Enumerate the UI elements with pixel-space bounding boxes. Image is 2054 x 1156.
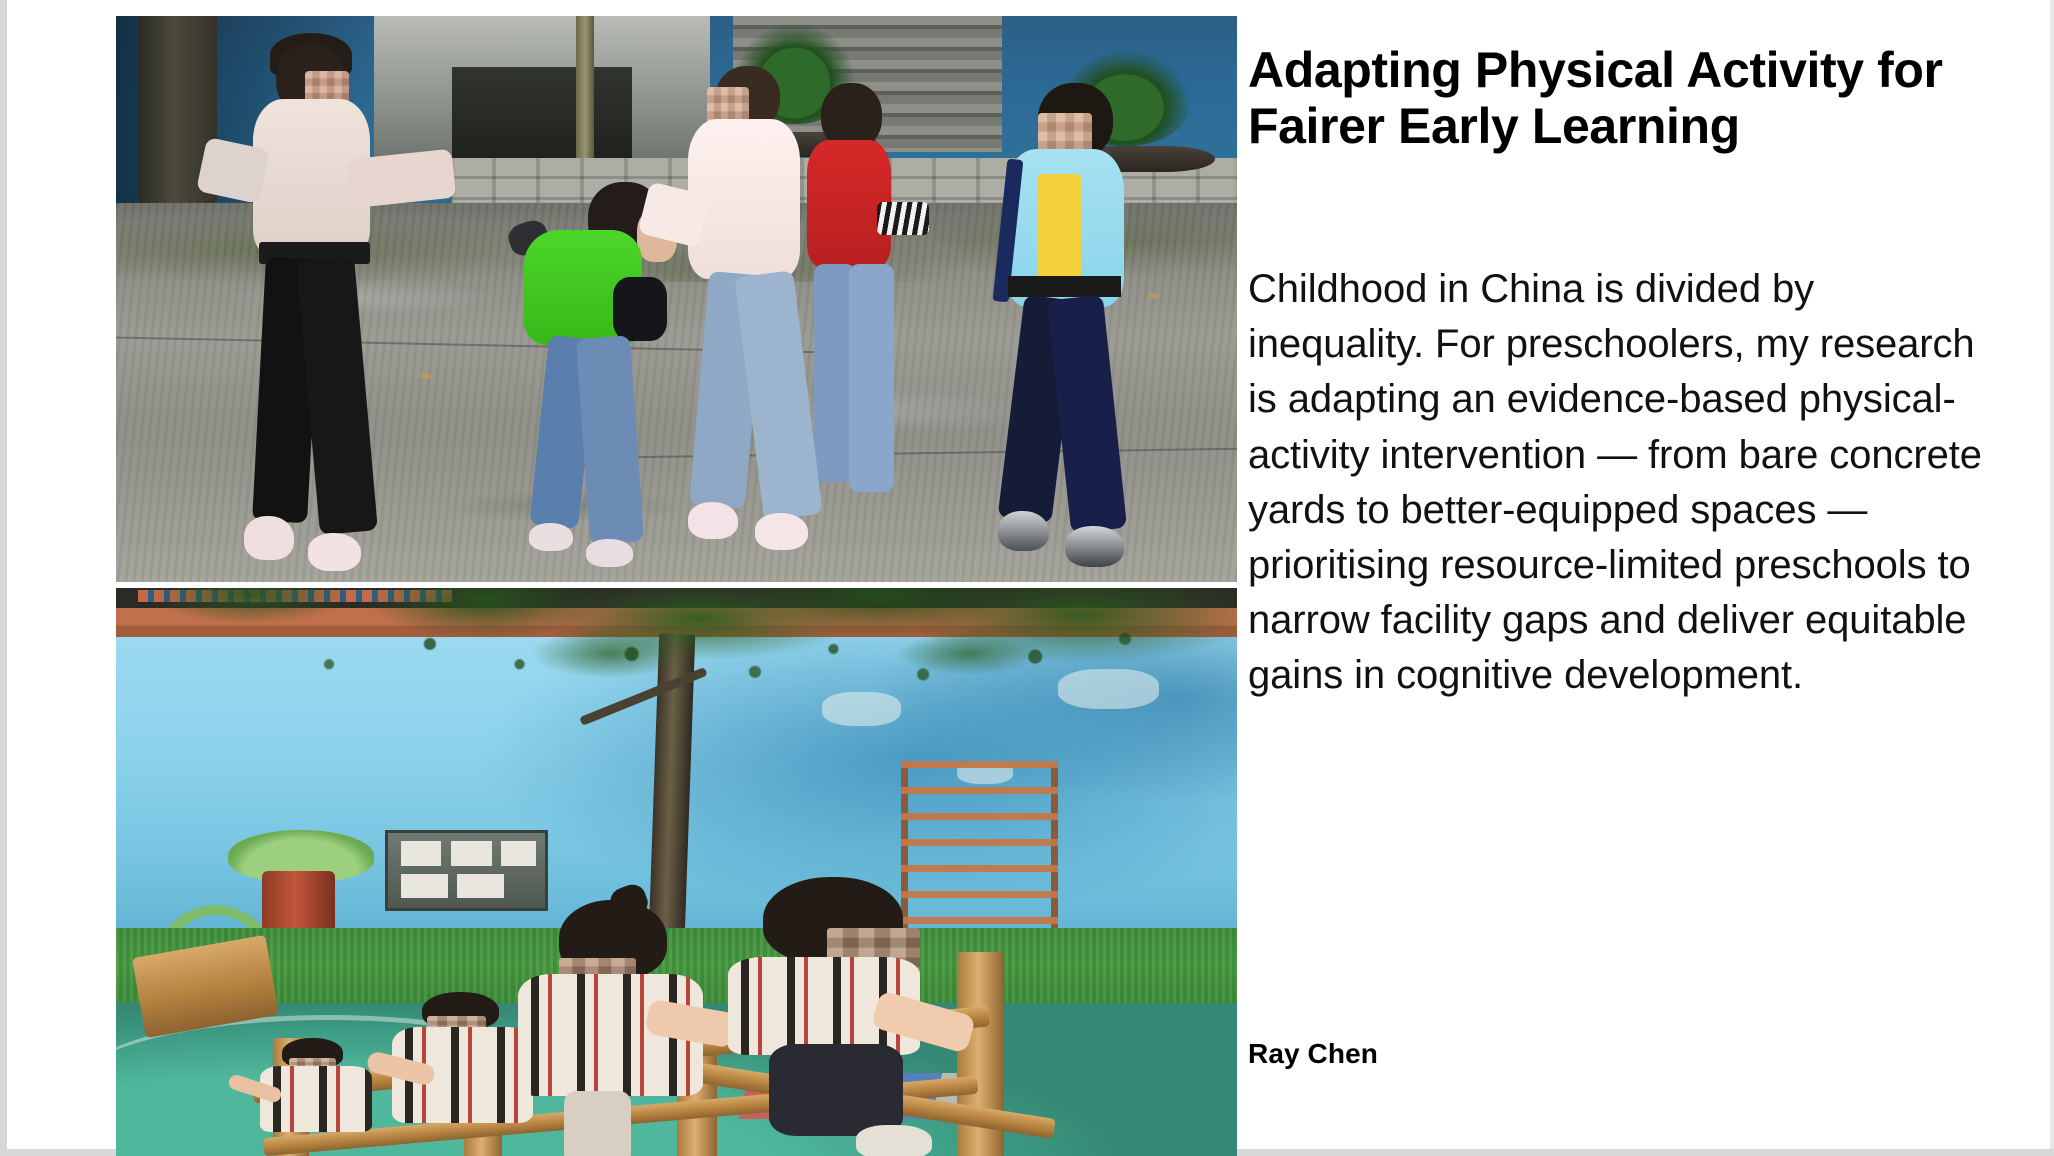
page-edge-left [0, 0, 7, 1156]
child-figure [632, 50, 912, 582]
page-edge-right [2050, 0, 2054, 1156]
author-name: Ray Chen [1248, 1038, 1378, 1070]
preschool-concrete-yard-photo [116, 16, 1237, 582]
preschool-equipped-playground-photo [116, 588, 1237, 1156]
photo-column [76, 0, 1197, 1149]
child-figure [189, 33, 480, 582]
text-column: Adapting Physical Activity for Fairer Ea… [1248, 0, 1988, 1156]
abstract-paragraph: Childhood in China is divided by inequal… [1248, 262, 1996, 704]
child-figure [699, 877, 990, 1156]
tree-trunk-second [576, 16, 594, 163]
page-title: Adapting Physical Activity for Fairer Ea… [1248, 42, 1978, 154]
poster-canvas: Adapting Physical Activity for Fairer Ea… [0, 0, 2054, 1156]
concrete-yard-scene [116, 16, 1237, 582]
child-figure [968, 73, 1237, 582]
tree-leaves [116, 588, 1237, 842]
playground-scene [116, 588, 1237, 1156]
